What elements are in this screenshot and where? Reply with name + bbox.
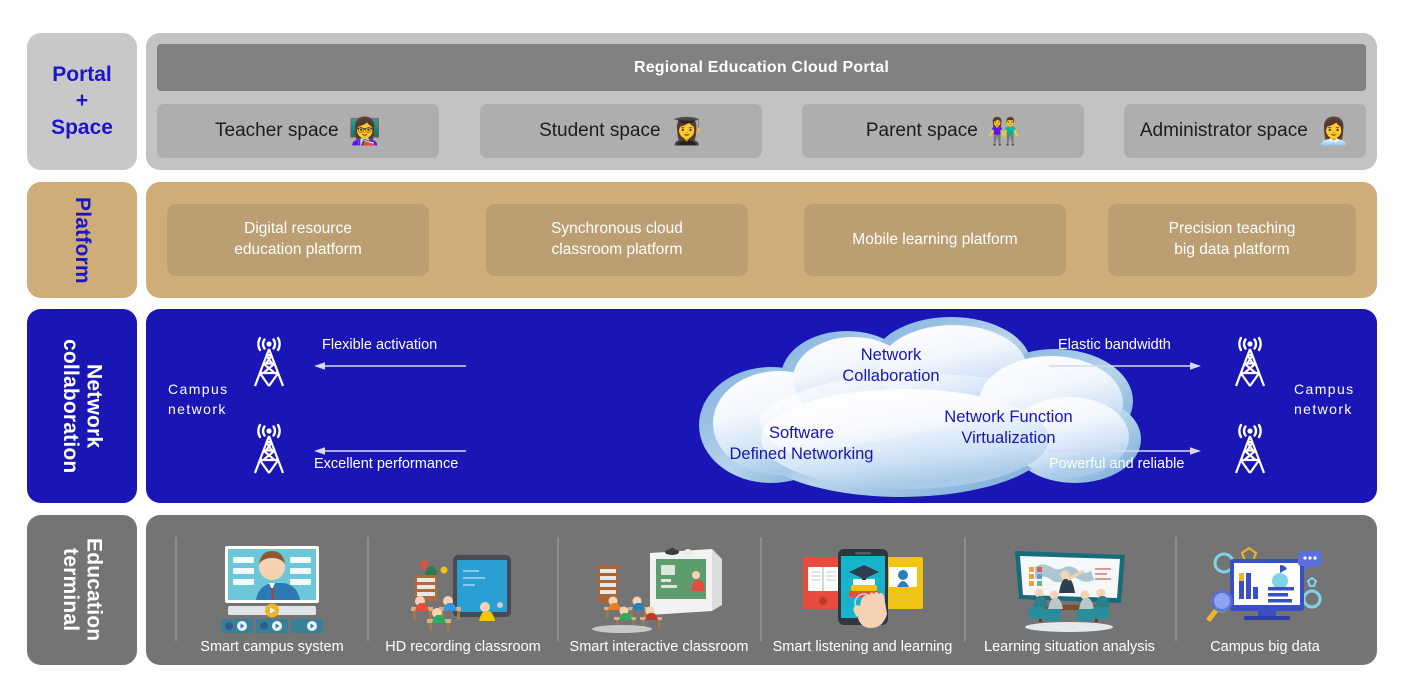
row-label-education-terminal: Education terminal [27,515,137,665]
big-data-dashboard-icon [1200,543,1330,635]
student-avatar-icon: 👩‍🎓 [671,118,703,144]
terminal-item-learning-situation-analysis[interactable]: Learning situation analysis [968,525,1171,655]
arrow-label-elastic-bandwidth: Elastic bandwidth [1058,337,1171,353]
analysis-meeting-icon [999,543,1141,635]
terminal-item-smart-campus-system[interactable]: Smart campus system [179,525,365,655]
row-label-portal-space: Portal + Space [27,33,137,170]
terminal-item-smart-interactive-classroom[interactable]: Smart interactive classroom [561,525,757,655]
space-button-teacher-label: Teacher space [215,120,339,142]
platform-card-digital-resource[interactable]: Digital resource education platform [167,204,429,276]
arrow-label-powerful-and-reliable: Powerful and reliable [1049,456,1184,472]
cloud-text-network-collaboration: Network Collaboration [801,345,981,388]
terminal-item-smart-listening-and-learning[interactable]: Smart listening and learning [763,525,962,655]
terminal-caption-campus-big-data: Campus big data [1210,639,1320,655]
platform-card-precision-teaching[interactable]: Precision teaching big data platform [1108,204,1356,276]
mobile-learning-icon [795,543,931,635]
space-button-administrator[interactable]: Administrator space 👩‍💼 [1124,104,1366,158]
row-label-platform-text: Platform [70,197,94,284]
video-lecture-icon [209,543,335,635]
platform-card-digital-resource-label: Digital resource education platform [234,219,362,261]
space-button-student[interactable]: Student space 👩‍🎓 [480,104,762,158]
terminal-divider [964,537,966,641]
space-button-row: Teacher space 👩‍🏫 Student space 👩‍🎓 Pare… [157,104,1366,158]
terminal-caption-learning-situation-analysis: Learning situation analysis [984,639,1155,655]
network-collaboration-panel: Campus network Flexible activation Excel… [146,309,1377,503]
platform-card-mobile-learning[interactable]: Mobile learning platform [804,204,1066,276]
tower-icon-right-bottom [1221,421,1279,479]
tower-icon-left-bottom [240,421,298,479]
terminal-divider [760,537,762,641]
platform-card-precision-teaching-label: Precision teaching big data platform [1169,219,1296,261]
tower-icon-left-top [240,334,298,392]
architecture-diagram: Portal + Space Platform Network collabor… [0,0,1404,692]
platform-card-mobile-learning-label: Mobile learning platform [852,230,1017,251]
terminal-divider [557,537,559,641]
terminal-divider [367,537,369,641]
campus-network-label-left: Campus network [168,379,229,420]
terminal-divider [1175,537,1177,641]
terminal-caption-smart-interactive-classroom: Smart interactive classroom [570,639,749,655]
portal-banner: Regional Education Cloud Portal [157,44,1366,91]
cloud-text-software-defined-networking: Software Defined Networking [694,423,909,466]
row-label-network-collaboration-text: Network collaboration [58,309,105,503]
campus-network-label-right: Campus network [1294,379,1355,420]
row-label-platform: Platform [27,182,137,298]
terminal-item-hd-recording-classroom[interactable]: HD recording classroom [371,525,555,655]
arrow-right-bottom [1049,446,1201,456]
recording-classroom-icon [397,543,529,635]
platform-card-synchronous-cloud-label: Synchronous cloud classroom platform [551,219,683,261]
terminal-divider [175,537,177,641]
row-label-network-collaboration: Network collaboration [27,309,137,503]
arrow-label-excellent-performance: Excellent performance [314,456,458,472]
education-terminal-panel: Smart campus system [146,515,1377,665]
row-label-portal-space-text: Portal + Space [51,62,113,141]
terminal-item-campus-big-data[interactable]: Campus big data [1179,525,1351,655]
terminal-caption-smart-campus-system: Smart campus system [200,639,343,655]
space-button-student-label: Student space [539,120,660,142]
arrow-right-top [1049,361,1201,371]
teacher-avatar-icon: 👩‍🏫 [349,118,381,144]
interactive-classroom-icon [588,543,730,635]
tower-icon-right-top [1221,334,1279,392]
parents-avatar-icon: 👫 [988,118,1020,144]
arrow-left-top [314,361,466,371]
cloud-text-network-function-virtualization: Network Function Virtualization [906,407,1111,450]
terminal-caption-hd-recording-classroom: HD recording classroom [385,639,541,655]
arrow-label-flexible-activation: Flexible activation [322,337,437,353]
space-button-teacher[interactable]: Teacher space 👩‍🏫 [157,104,439,158]
space-button-administrator-label: Administrator space [1140,120,1308,142]
terminal-caption-smart-listening-and-learning: Smart listening and learning [773,639,953,655]
arrow-left-bottom [314,446,466,456]
platform-card-synchronous-cloud[interactable]: Synchronous cloud classroom platform [486,204,748,276]
space-button-parent[interactable]: Parent space 👫 [802,104,1084,158]
platform-panel: Digital resource education platform Sync… [146,182,1377,298]
space-button-parent-label: Parent space [866,120,978,142]
row-label-education-terminal-text: Education terminal [58,515,105,665]
administrator-avatar-icon: 👩‍💼 [1318,118,1350,144]
portal-space-panel: Regional Education Cloud Portal Teacher … [146,33,1377,170]
